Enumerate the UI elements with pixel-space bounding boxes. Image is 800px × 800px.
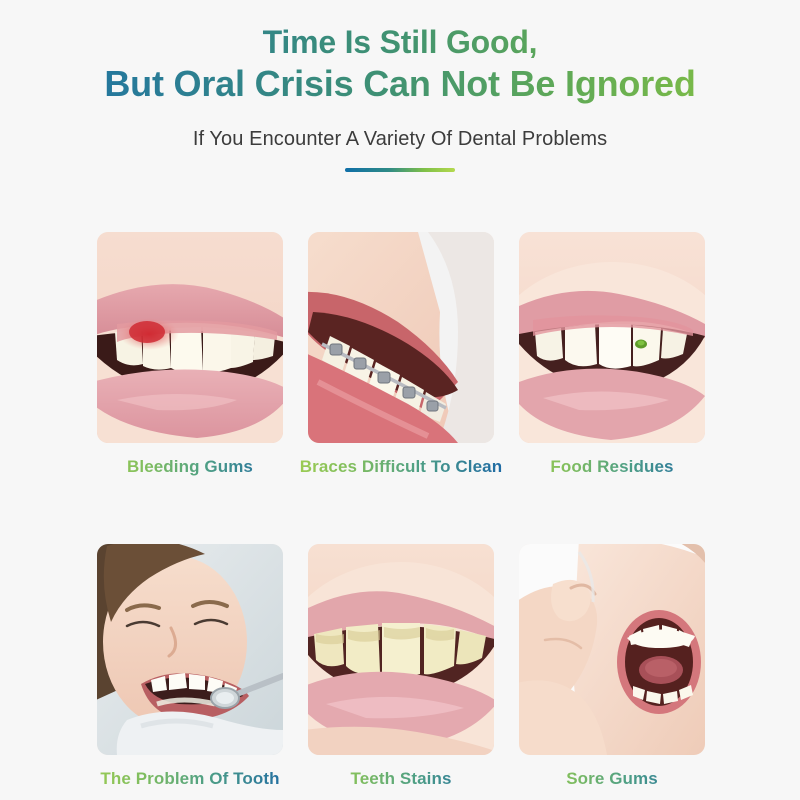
problem-row-1: Bleeding Gums [97,232,705,477]
problem-card-sore-gums[interactable]: Sore Gums [519,544,705,789]
gradient-divider [345,168,455,172]
caption-bleeding-gums: Bleeding Gums [97,457,283,477]
caption-sore-gums: Sore Gums [519,769,705,789]
title-line-1: Time Is Still Good, [0,22,800,63]
sore-gums-illustration [519,544,705,755]
problem-card-problem-of-tooth[interactable]: The Problem Of Tooth [97,544,283,789]
title-line-2: But Oral Crisis Can Not Be Ignored [0,61,800,107]
teeth-stains-illustration [308,544,494,755]
food-residues-illustration [519,232,705,443]
page-header: Time Is Still Good, But Oral Crisis Can … [0,0,800,172]
problem-card-food-residues[interactable]: Food Residues [519,232,705,477]
problem-card-teeth-stains[interactable]: Teeth Stains [308,544,494,789]
problem-card-bleeding-gums[interactable]: Bleeding Gums [97,232,283,477]
problem-grid: Bleeding Gums [97,232,705,789]
caption-food-residues: Food Residues [519,457,705,477]
caption-braces-difficult-to-clean: Braces Difficult To Clean [296,457,506,477]
bleeding-gums-illustration [97,232,283,443]
photo-braces-difficult-to-clean [308,232,494,443]
photo-food-residues [519,232,705,443]
dental-exam-illustration [97,544,283,755]
problem-row-2: The Problem Of Tooth [97,544,705,789]
caption-the-problem-of-tooth: The Problem Of Tooth [85,769,295,789]
braces-illustration [308,232,494,443]
caption-teeth-stains: Teeth Stains [308,769,494,789]
problem-card-braces[interactable]: Braces Difficult To Clean [308,232,494,477]
page-title: Time Is Still Good, But Oral Crisis Can … [0,0,800,106]
photo-sore-gums [519,544,705,755]
photo-the-problem-of-tooth [97,544,283,755]
photo-teeth-stains [308,544,494,755]
photo-bleeding-gums [97,232,283,443]
page-subtitle: If You Encounter A Variety Of Dental Pro… [0,128,800,151]
